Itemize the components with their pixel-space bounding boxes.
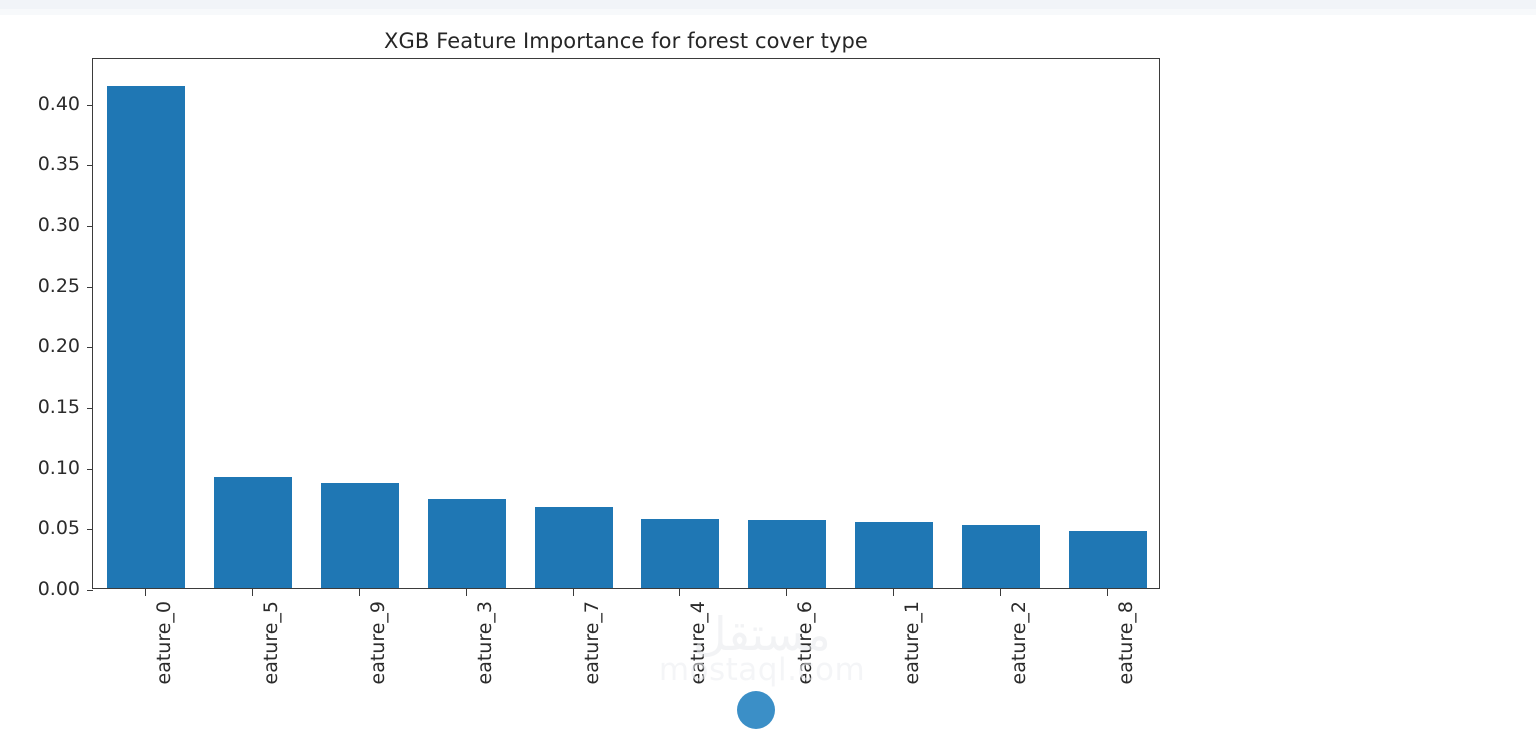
bar <box>428 499 506 588</box>
x-tick-label: feature_5 <box>260 601 282 684</box>
bar <box>641 519 719 588</box>
y-tick-label: 0.40 <box>38 93 80 115</box>
x-tick-label: feature_8 <box>1115 601 1137 684</box>
y-tick-label: 0.15 <box>38 396 80 418</box>
bar <box>855 522 933 588</box>
x-tick-label: feature_2 <box>1008 601 1030 684</box>
x-tick-mark <box>252 589 253 596</box>
x-axis-tick-labels: feature_0feature_5feature_9feature_3feat… <box>92 597 1160 684</box>
x-tick-mark <box>786 589 787 596</box>
bar <box>748 520 826 588</box>
plot-area <box>92 58 1160 589</box>
browser-top-strip <box>0 0 1536 9</box>
y-axis-tick-labels: 0.000.050.100.150.200.250.300.350.40 <box>0 58 92 589</box>
y-tick-mark <box>87 226 93 227</box>
y-tick-label: 0.25 <box>38 275 80 297</box>
bar <box>214 477 292 588</box>
x-tick-label: feature_9 <box>367 601 389 684</box>
x-tick-mark <box>893 589 894 596</box>
x-tick-label: feature_3 <box>474 601 496 684</box>
bar <box>321 483 399 588</box>
y-tick-label: 0.00 <box>38 578 80 600</box>
x-tick-mark <box>466 589 467 596</box>
x-tick-label: feature_0 <box>153 601 175 684</box>
x-tick-mark <box>359 589 360 596</box>
bar <box>1069 531 1147 588</box>
x-tick-label: feature_4 <box>687 601 709 684</box>
x-tick-mark <box>1107 589 1108 596</box>
x-tick-label: feature_1 <box>901 601 923 684</box>
matplotlib-figure: XGB Feature Importance for forest cover … <box>0 15 1536 684</box>
x-tick-label: feature_7 <box>581 601 603 684</box>
x-axis-tick-marks <box>92 589 1160 597</box>
watermark-badge-circle <box>737 691 775 729</box>
y-tick-mark <box>87 105 93 106</box>
bar <box>962 525 1040 588</box>
bar <box>107 86 185 588</box>
chart-title: XGB Feature Importance for forest cover … <box>92 29 1160 53</box>
x-tick-label: feature_6 <box>794 601 816 684</box>
y-tick-mark <box>87 287 93 288</box>
y-tick-label: 0.20 <box>38 335 80 357</box>
y-tick-mark <box>87 408 93 409</box>
y-tick-mark <box>87 469 93 470</box>
y-tick-label: 0.05 <box>38 517 80 539</box>
y-tick-label: 0.30 <box>38 214 80 236</box>
bars-layer <box>93 59 1159 588</box>
y-tick-mark <box>87 347 93 348</box>
y-tick-mark <box>87 165 93 166</box>
y-tick-mark <box>87 529 93 530</box>
x-tick-mark <box>145 589 146 596</box>
y-tick-label: 0.10 <box>38 457 80 479</box>
x-tick-mark <box>573 589 574 596</box>
x-tick-mark <box>1000 589 1001 596</box>
y-tick-label: 0.35 <box>38 153 80 175</box>
bar <box>535 507 613 588</box>
x-tick-mark <box>679 589 680 596</box>
